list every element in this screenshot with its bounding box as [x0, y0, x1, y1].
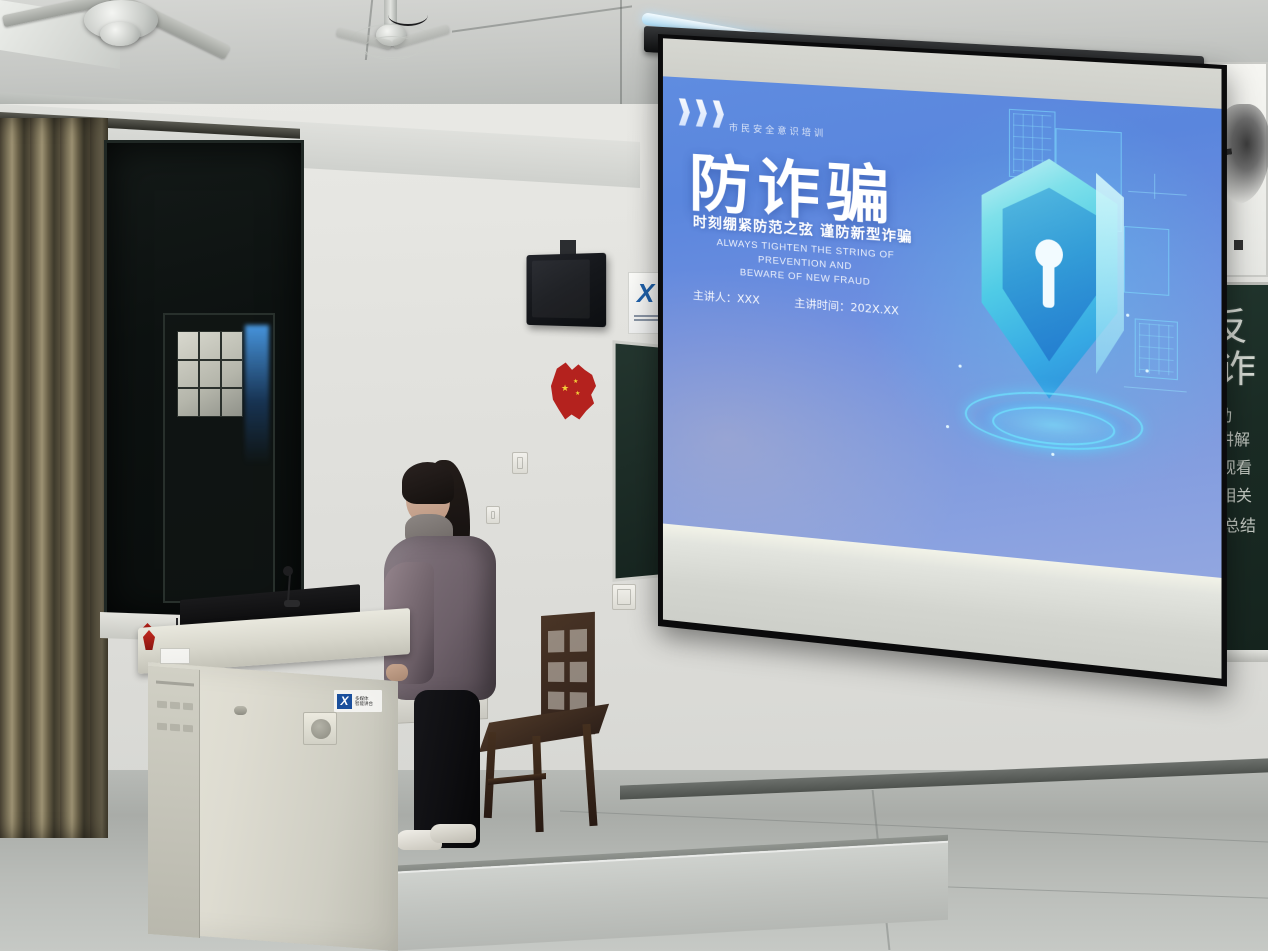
slide-time-label: 主讲时间：202X.XX — [794, 294, 899, 318]
presenter-hair-front — [402, 462, 454, 504]
lectern-button[interactable] — [157, 701, 167, 709]
window-curtain[interactable] — [0, 118, 108, 838]
lectern-label-sticker — [160, 648, 190, 664]
lectern-button[interactable] — [183, 703, 193, 711]
circuit-line — [1154, 174, 1155, 199]
lectern-button-panel[interactable] — [157, 701, 193, 744]
classroom-scene: ★ ★ ★ X 反 诈 活动 1 讲解 2 观看 3 相关 4 总结 — [0, 0, 1268, 951]
brand-text: 多媒体 智能讲台 — [355, 696, 373, 707]
window-blue-reflection — [245, 325, 269, 465]
brand-line-2: 智能讲台 — [355, 701, 373, 706]
wall-speaker — [526, 253, 606, 327]
map-star-icon: ★ — [575, 390, 580, 399]
microphone-base — [284, 600, 300, 607]
chair-back-slot — [548, 662, 564, 682]
skyline-building — [1124, 226, 1169, 296]
circuit-line — [1124, 386, 1187, 392]
ceiling-fan-left — [48, 0, 268, 90]
projected-slide: 市民安全意识培训 防诈骗 时刻绷紧防范之弦 谨防新型诈骗 ALWAYS TIGH… — [663, 76, 1222, 589]
spark-dot — [1145, 369, 1148, 372]
presenter-shoe-right — [430, 824, 476, 843]
spark-dot — [1126, 314, 1129, 317]
lectern-brand-badge: X 多媒体 智能讲台 — [334, 690, 382, 712]
spark-dot — [1051, 453, 1054, 456]
poster-seal — [1234, 240, 1243, 250]
lectern-button[interactable] — [157, 722, 167, 730]
brand-line-1: 多媒体 — [355, 696, 369, 701]
shield-edge-highlight — [1096, 164, 1124, 395]
spark-dot — [959, 364, 962, 367]
lectern-handle[interactable] — [234, 706, 247, 715]
lectern-button[interactable] — [170, 702, 180, 710]
map-star-icon: ★ — [573, 378, 578, 387]
presenter-hand — [386, 664, 408, 681]
lectern-vent — [303, 712, 337, 745]
spark-dot — [946, 425, 949, 428]
lectern-button[interactable] — [183, 724, 193, 732]
brand-x-icon: X — [337, 694, 352, 709]
wall-socket-upper[interactable] — [512, 452, 528, 474]
chair-back-slot — [570, 662, 587, 683]
wall-socket-lower[interactable] — [612, 584, 636, 610]
chair-back-slot — [548, 630, 564, 652]
map-star-icon: ★ — [561, 384, 569, 393]
screen-surface: 市民安全意识培训 防诈骗 时刻绷紧防范之弦 谨防新型诈骗 ALWAYS TIGH… — [663, 38, 1222, 678]
circuit-line — [1128, 191, 1186, 196]
chair-leg — [582, 724, 597, 826]
microphone-head — [283, 566, 293, 576]
window — [104, 140, 304, 620]
fan-hub — [100, 22, 140, 46]
keyhole-stem — [1043, 260, 1055, 308]
shield-keyhole-icon — [927, 98, 1193, 553]
skyline-building — [1135, 318, 1178, 380]
center-blackboard-edge — [612, 340, 664, 582]
projection-screen[interactable]: 市民安全意识培训 防诈骗 时刻绷紧防范之弦 谨防新型诈骗 ALWAYS TIGH… — [658, 34, 1227, 687]
chair-leg — [532, 736, 543, 832]
chair-back-slot — [570, 629, 587, 652]
glass-pane-grid — [177, 331, 243, 417]
ceiling-cable — [388, 4, 428, 26]
lectern-button[interactable] — [170, 723, 180, 731]
blackboard-item-text-4: 总结 — [1224, 517, 1256, 537]
chair-back-slot — [548, 692, 564, 710]
slide-speaker-label: 主讲人：XXX — [693, 287, 760, 308]
window-inner-door — [163, 313, 275, 603]
